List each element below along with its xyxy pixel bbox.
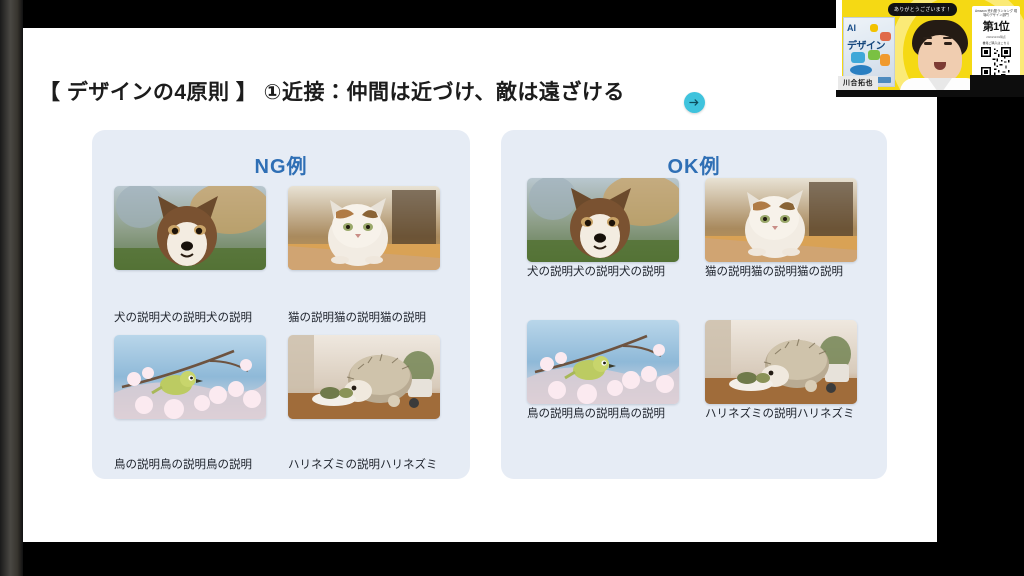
badge-sub-text: 2024/11/01時点 xyxy=(986,35,1005,39)
ng-item-bird-image xyxy=(114,335,266,419)
panel-ng-example: NG例 xyxy=(92,130,470,479)
book-deco-3 xyxy=(851,52,865,63)
presenter-brow-left xyxy=(923,37,932,39)
calico-cat-photo xyxy=(705,178,857,262)
ng-image-grid: 犬の説明犬の説明犬の説明 猫の説明猫の説明猫の説明 xyxy=(92,130,470,479)
ng-caption-bird: 鳥の説明鳥の説明鳥の説明 xyxy=(114,459,252,472)
qr-code-icon[interactable] xyxy=(981,47,1011,77)
book-deco-4 xyxy=(868,50,880,60)
ng-caption-hedgehog: ハリネズミの説明ハリネズミ xyxy=(288,459,438,472)
bird-cherry-blossom-photo xyxy=(527,320,679,404)
webcam-overlay[interactable]: AI デザイン ありがとうございます！ Amazon 売れ筋ランキング 現場のデ… xyxy=(836,0,1024,97)
next-arrow-button[interactable] xyxy=(684,92,705,113)
ok-item-bird-image xyxy=(527,320,679,404)
ok-caption-hedgehog: ハリネズミの説明ハリネズミ xyxy=(705,408,855,421)
presentation-slide: 【 デザインの4原則 】 ①近接：仲間は近づけ、敵は遠ざける NG例 xyxy=(23,28,937,542)
ok-item-dog-image xyxy=(527,178,679,262)
calico-cat-photo xyxy=(288,186,440,270)
arrow-right-icon xyxy=(688,96,701,109)
ng-caption-dog: 犬の説明犬の説明犬の説明 xyxy=(114,312,252,325)
video-stage: 【 デザインの4原則 】 ①近接：仲間は近づけ、敵は遠ざける NG例 xyxy=(0,0,1024,576)
shiba-dog-photo xyxy=(527,178,679,262)
panel-ok-example: OK例 xyxy=(501,130,887,479)
ok-caption-dog: 犬の説明犬の説明犬の説明 xyxy=(527,266,665,279)
presenter-eye-left xyxy=(924,42,932,45)
book-deco-1 xyxy=(870,24,878,32)
presenter-eye-right xyxy=(944,42,952,45)
webcam-corner-block xyxy=(970,75,1024,97)
presenter-brow-right xyxy=(943,37,952,39)
presenter-name-label: 川合拓也 xyxy=(838,76,878,90)
badge-top-text: Amazon 売れ筋ランキング 現場のデザイン部門 xyxy=(974,9,1018,17)
shiba-dog-photo xyxy=(114,186,266,270)
book-title-line1: AI xyxy=(847,23,856,33)
ranking-badge: Amazon 売れ筋ランキング 現場のデザイン部門 第1位 2024/11/01… xyxy=(972,6,1020,82)
hedgehog-photo xyxy=(288,335,440,419)
book-deco-5 xyxy=(880,54,890,66)
ok-caption-cat: 猫の説明猫の説明猫の説明 xyxy=(705,266,843,279)
badge-rank: 第1位 xyxy=(983,18,1010,34)
ng-item-cat-image xyxy=(288,186,440,270)
video-left-edge xyxy=(0,0,23,576)
bird-cherry-blossom-photo xyxy=(114,335,266,419)
book-deco-6 xyxy=(850,65,872,75)
ng-item-hedgehog-image xyxy=(288,335,440,419)
hedgehog-photo xyxy=(705,320,857,404)
book-deco-2 xyxy=(880,32,891,41)
ok-image-grid: 犬の説明犬の説明犬の説明 猫の説明猫の説明猫の説明 xyxy=(501,130,887,479)
ng-caption-cat: 猫の説明猫の説明猫の説明 xyxy=(288,312,426,325)
speech-bubble: ありがとうございます！ xyxy=(888,3,957,16)
ng-item-dog-image xyxy=(114,186,266,270)
badge-note: 書籍ご購入はこちら xyxy=(982,41,1009,45)
ok-item-cat-image xyxy=(705,178,857,262)
page-title: 【 デザインの4原則 】 ①近接：仲間は近づけ、敵は遠ざける xyxy=(39,76,625,106)
ok-item-hedgehog-image xyxy=(705,320,857,404)
ok-caption-bird: 鳥の説明鳥の説明鳥の説明 xyxy=(527,408,665,421)
